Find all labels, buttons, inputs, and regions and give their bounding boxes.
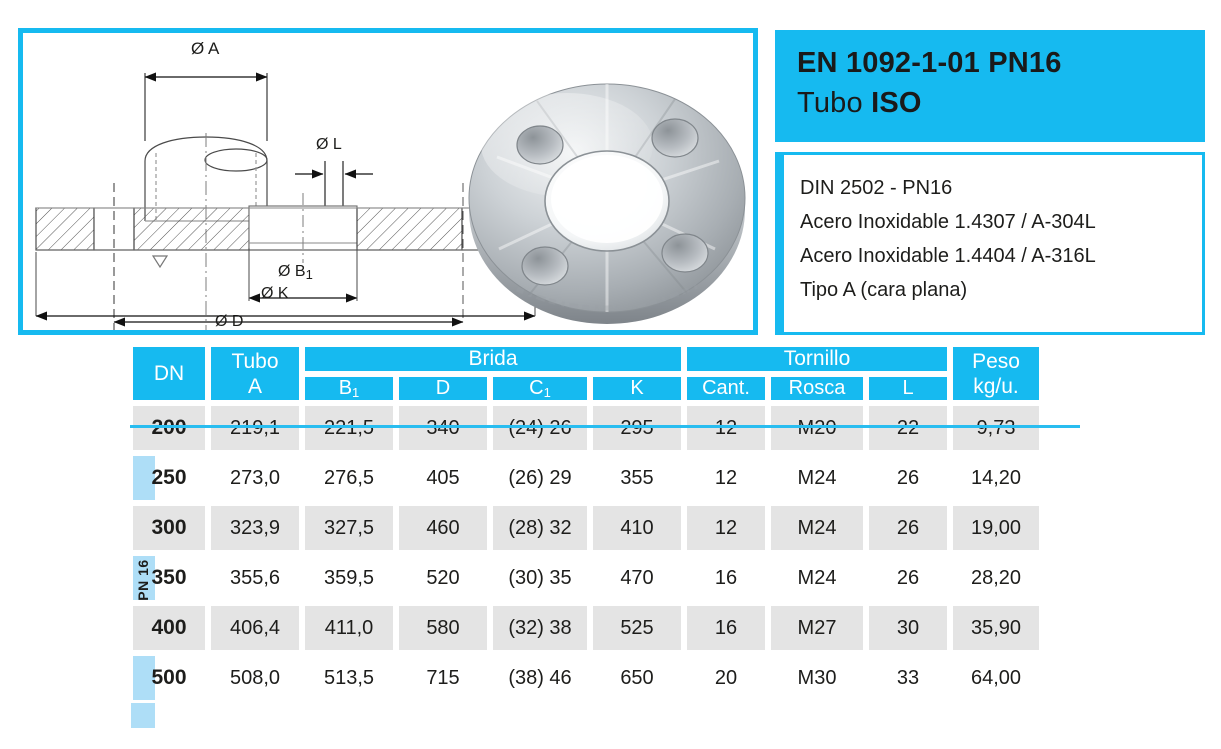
cell-l: 22 (866, 403, 950, 453)
cell-peso: 19,00 (950, 503, 1042, 553)
cell-cant: 12 (684, 453, 768, 503)
header-underline (130, 425, 1080, 428)
cell-b1: 276,5 (302, 453, 396, 503)
cell-l: 26 (866, 553, 950, 603)
cell-dn: 350 (130, 553, 208, 603)
th-tubo-label: Tubo (211, 349, 299, 374)
th-d: D (396, 374, 490, 403)
cell-d: 520 (396, 553, 490, 603)
cell-peso: 9,73 (950, 403, 1042, 453)
cell-cant: 12 (684, 503, 768, 553)
cell-cant: 12 (684, 403, 768, 453)
cell-a: 508,0 (208, 653, 302, 703)
product-bold: ISO (871, 87, 922, 119)
cell-a: 219,1 (208, 403, 302, 453)
th-cant: Cant. (684, 374, 768, 403)
table-row: 500 508,0 513,5 715 (38) 46 650 20 M30 3… (130, 653, 1042, 703)
spec-item: DIN 2502 - PN16 (800, 171, 1192, 205)
cell-a: 355,6 (208, 553, 302, 603)
cell-peso: 28,20 (950, 553, 1042, 603)
spec-accent-bar (775, 152, 784, 335)
cell-l: 30 (866, 603, 950, 653)
cell-dn: 400 (130, 603, 208, 653)
cell-d: 715 (396, 653, 490, 703)
cell-k: 650 (590, 653, 684, 703)
cell-k: 355 (590, 453, 684, 503)
spec-item: Tipo A (cara plana) (800, 273, 1192, 307)
th-peso-sub: kg/u. (953, 374, 1039, 399)
cell-peso: 14,20 (950, 453, 1042, 503)
technical-drawing-panel: Ø A Ø L Ø B1 Ø K Ø D C1 (18, 28, 758, 335)
table-body: 200 219,1 221,5 340 (24) 26 295 12 M20 2… (130, 403, 1042, 703)
cell-rosca: M20 (768, 403, 866, 453)
th-peso-label: Peso (953, 349, 1039, 374)
cell-peso: 64,00 (950, 653, 1042, 703)
table-row: 350 355,6 359,5 520 (30) 35 470 16 M24 2… (130, 553, 1042, 603)
cell-rosca: M24 (768, 453, 866, 503)
cell-peso: 35,90 (950, 603, 1042, 653)
dimensions-table-zone: PN 16 DN Tubo A Brida Tornillo Peso kg/u… (0, 344, 1221, 744)
cell-b1: 513,5 (302, 653, 396, 703)
th-tubo: Tubo A (208, 344, 302, 403)
table-header-row-1: DN Tubo A Brida Tornillo Peso kg/u. (130, 344, 1042, 374)
cell-rosca: M30 (768, 653, 866, 703)
cell-d: 580 (396, 603, 490, 653)
cell-a: 323,9 (208, 503, 302, 553)
cell-b1: 411,0 (302, 603, 396, 653)
spec-box: DIN 2502 - PN16 Acero Inoxidable 1.4307 … (775, 152, 1205, 335)
dimensions-table: DN Tubo A Brida Tornillo Peso kg/u. B1 D (130, 344, 1042, 703)
cell-rosca: M24 (768, 503, 866, 553)
cell-k: 525 (590, 603, 684, 653)
cell-dn: 300 (130, 503, 208, 553)
cell-d: 405 (396, 453, 490, 503)
cell-cant: 20 (684, 653, 768, 703)
cell-d: 460 (396, 503, 490, 553)
table-row: 200 219,1 221,5 340 (24) 26 295 12 M20 2… (130, 403, 1042, 453)
cell-c1: (32) 38 (490, 603, 590, 653)
cell-k: 470 (590, 553, 684, 603)
th-l: L (866, 374, 950, 403)
table-row: 250 273,0 276,5 405 (26) 29 355 12 M24 2… (130, 453, 1042, 503)
table-row: 300 323,9 327,5 460 (28) 32 410 12 M24 2… (130, 503, 1042, 553)
cell-d: 340 (396, 403, 490, 453)
th-tornillo-group: Tornillo (684, 344, 950, 374)
th-dn: DN (130, 344, 208, 403)
cell-dn: 200 (130, 403, 208, 453)
product-title: Tubo ISO (797, 84, 1205, 122)
th-peso: Peso kg/u. (950, 344, 1042, 403)
table-row: 400 406,4 411,0 580 (32) 38 525 16 M27 3… (130, 603, 1042, 653)
datasheet-page: Ø A Ø L Ø B1 Ø K Ø D C1 (0, 0, 1221, 749)
cell-l: 26 (866, 453, 950, 503)
cell-k: 295 (590, 403, 684, 453)
flange-render (457, 53, 757, 338)
cell-a: 406,4 (208, 603, 302, 653)
cell-cant: 16 (684, 553, 768, 603)
spec-list: DIN 2502 - PN16 Acero Inoxidable 1.4307 … (800, 171, 1192, 307)
cell-cant: 16 (684, 603, 768, 653)
th-k: K (590, 374, 684, 403)
cell-c1: (30) 35 (490, 553, 590, 603)
cell-l: 33 (866, 653, 950, 703)
cell-b1: 221,5 (302, 403, 396, 453)
title-box: EN 1092-1-01 PN16 Tubo ISO (775, 30, 1205, 142)
th-c1: C1 (490, 374, 590, 403)
cell-c1: (38) 46 (490, 653, 590, 703)
cell-k: 410 (590, 503, 684, 553)
spec-item: Acero Inoxidable 1.4307 / A-304L (800, 205, 1192, 239)
cell-dn: 250 (130, 453, 208, 503)
cell-dn: 500 (130, 653, 208, 703)
cell-c1: (26) 29 (490, 453, 590, 503)
cell-rosca: M27 (768, 603, 866, 653)
th-b1: B1 (302, 374, 396, 403)
table-head: DN Tubo A Brida Tornillo Peso kg/u. B1 D (130, 344, 1042, 403)
cell-l: 26 (866, 503, 950, 553)
th-rosca: Rosca (768, 374, 866, 403)
cell-c1: (24) 26 (490, 403, 590, 453)
th-brida-group: Brida (302, 344, 684, 374)
cell-b1: 359,5 (302, 553, 396, 603)
cell-a: 273,0 (208, 453, 302, 503)
spec-item: Acero Inoxidable 1.4404 / A-316L (800, 239, 1192, 273)
product-prefix: Tubo (797, 87, 871, 119)
cell-rosca: M24 (768, 553, 866, 603)
cell-c1: (28) 32 (490, 503, 590, 553)
top-section: Ø A Ø L Ø B1 Ø K Ø D C1 (0, 0, 1221, 340)
th-tubo-sub: A (211, 374, 299, 399)
flange-photo (457, 53, 757, 338)
cell-b1: 327,5 (302, 503, 396, 553)
standard-title: EN 1092-1-01 PN16 (797, 44, 1205, 82)
